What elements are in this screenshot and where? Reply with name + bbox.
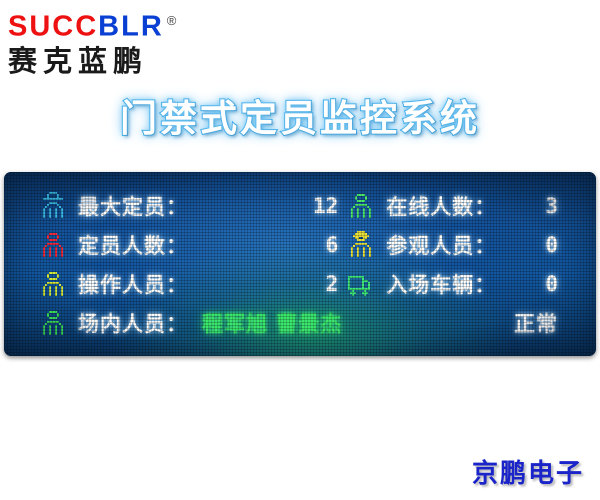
footer-company-name: 京鹏电子 xyxy=(472,453,584,490)
registered-trademark-icon: ® xyxy=(167,13,177,28)
truck-icon xyxy=(346,267,376,301)
led-value-vehicle-count: 0 xyxy=(545,272,562,296)
person-cap-icon xyxy=(38,189,68,223)
led-label-max-capacity: 最大定员： xyxy=(78,191,188,221)
led-label-vehicle-count: 入场车辆： xyxy=(386,269,496,299)
led-value-operator-count: 2 xyxy=(326,272,343,296)
table-row: 操作人员： 2 xyxy=(38,264,342,303)
led-label-onsite-personnel: 场内人员： xyxy=(78,308,188,338)
table-row: 场内人员： 程军旭 曹景杰 xyxy=(38,303,342,342)
table-row: 入场车辆： 0 xyxy=(346,264,562,303)
led-label-registered-count: 定员人数： xyxy=(78,230,188,260)
page-title: 门禁式定员监控系统 xyxy=(0,88,600,142)
status-cell: 正常 xyxy=(346,303,562,342)
led-label-visitor-count: 参观人员： xyxy=(386,230,496,260)
led-value-onsite-names: 程军旭 曹景杰 xyxy=(202,308,342,338)
table-row: 最大定员： 12 xyxy=(38,186,342,225)
led-label-operator-count: 操作人员： xyxy=(78,269,188,299)
led-value-max-capacity: 12 xyxy=(313,194,342,218)
table-row: 参观人员： 0 xyxy=(346,225,562,264)
table-row: 在线人数： 3 xyxy=(346,186,562,225)
person-icon xyxy=(38,306,68,340)
logo-chinese-name: 赛克蓝鹏 xyxy=(8,43,223,79)
led-readout-grid: 最大定员： 12 在线人数： 3 xyxy=(38,186,562,342)
led-value-registered-count: 6 xyxy=(326,233,343,257)
status-badge: 正常 xyxy=(514,308,562,338)
logo-wordmark-blr: BLR xyxy=(98,11,164,43)
person-icon xyxy=(38,228,68,262)
logo-wordmark: SUCCBLR® xyxy=(8,6,223,42)
person-helmet-icon xyxy=(346,228,376,262)
logo-wordmark-succ: SUCC xyxy=(8,11,98,43)
led-value-visitor-count: 0 xyxy=(545,233,562,257)
led-display-panel: 最大定员： 12 在线人数： 3 xyxy=(4,172,596,356)
person-icon xyxy=(346,189,376,223)
brand-logo: SUCCBLR® 赛克蓝鹏 xyxy=(8,6,223,76)
led-value-online-count: 3 xyxy=(545,194,562,218)
led-label-online-count: 在线人数： xyxy=(386,191,496,221)
person-icon xyxy=(38,267,68,301)
table-row: 定员人数： 6 xyxy=(38,225,342,264)
